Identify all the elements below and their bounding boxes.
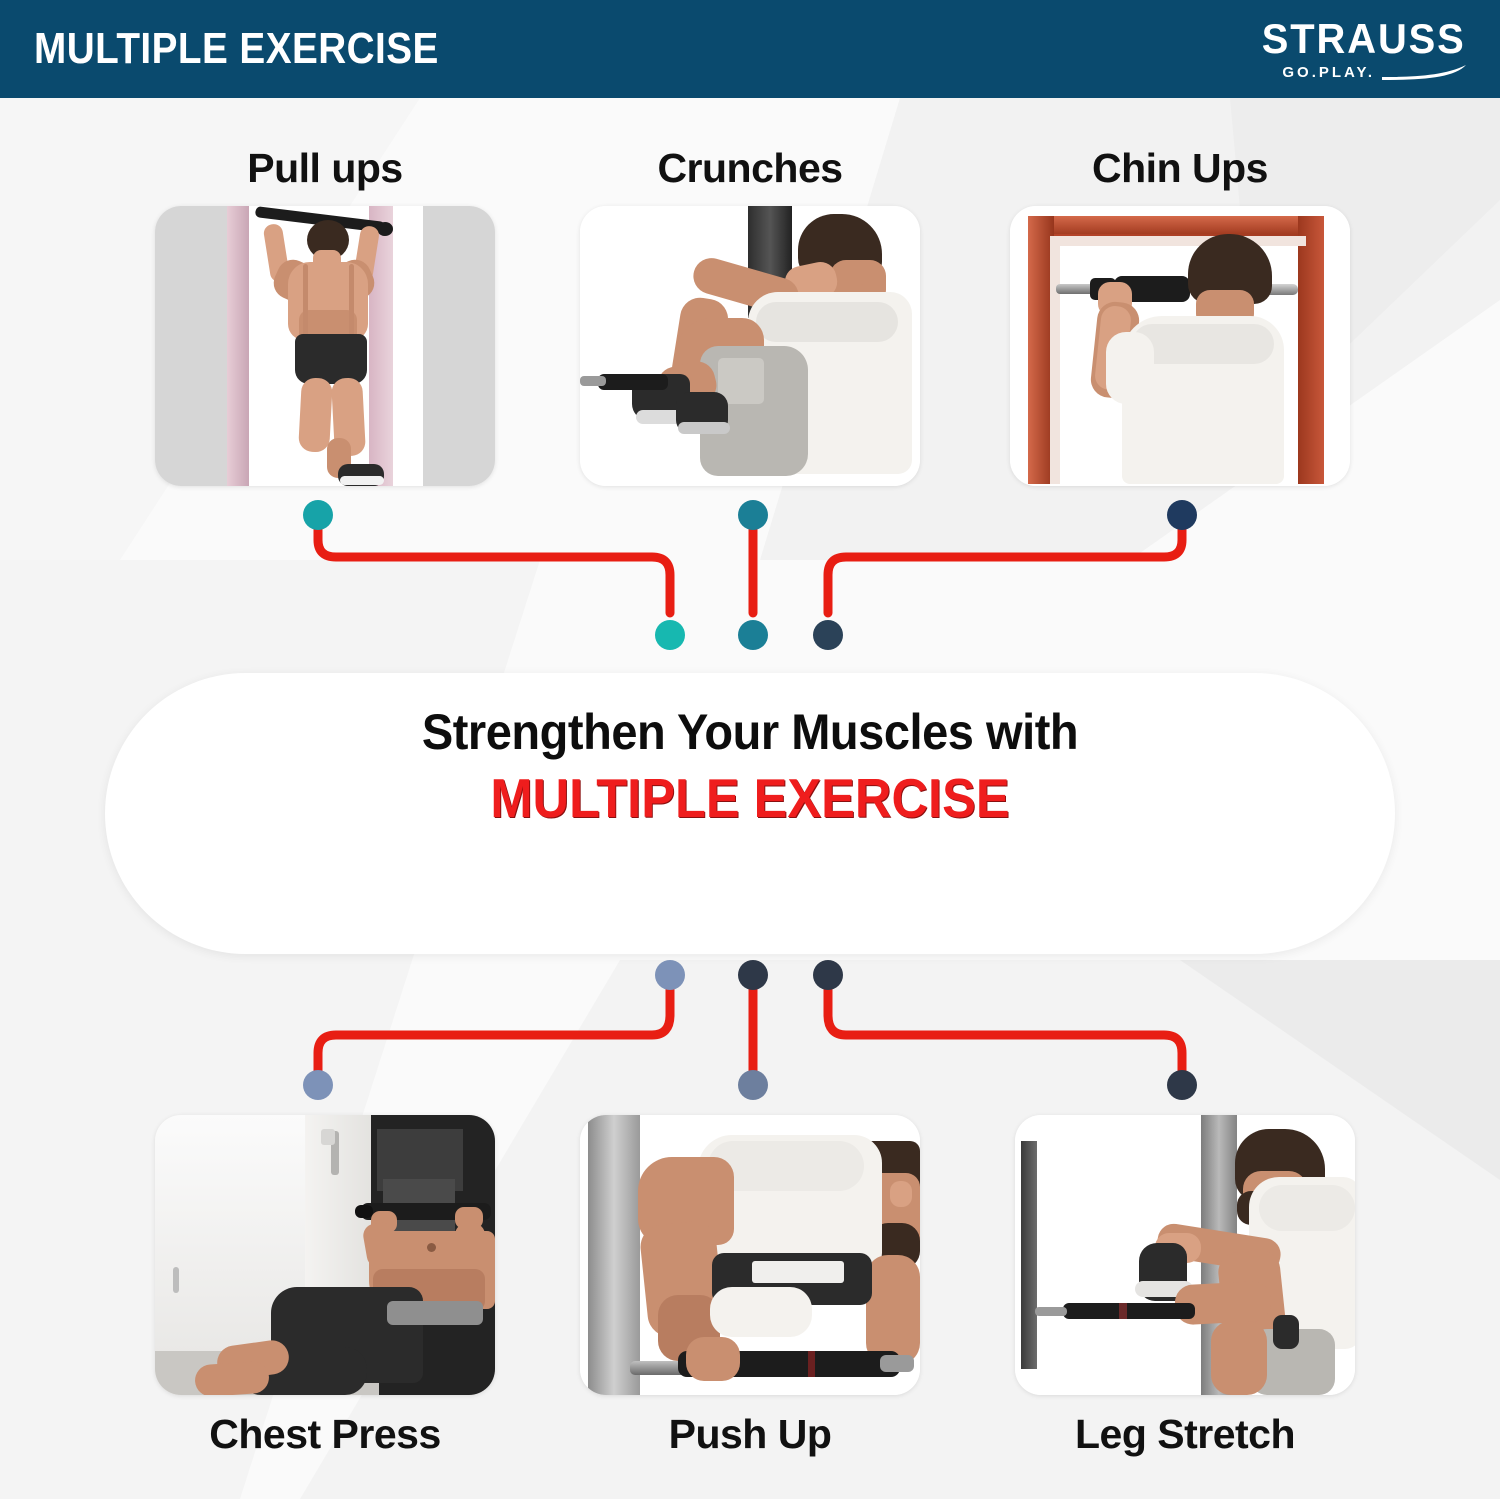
brand-subline: GO.PLAY. xyxy=(1282,65,1466,80)
center-panel: Strengthen Your Muscles with MULTIPLE EX… xyxy=(105,673,1395,954)
exercise-card-pull-ups[interactable]: Pull ups xyxy=(155,145,495,486)
swoosh-icon xyxy=(1382,65,1466,80)
exercise-label-pull-ups: Pull ups xyxy=(155,145,495,192)
exercise-card-crunches[interactable]: Crunches xyxy=(580,145,920,486)
exercise-photo-crunches xyxy=(580,206,920,486)
page-title: MULTIPLE EXERCISE xyxy=(34,24,439,74)
brand-tagline: GO.PLAY. xyxy=(1282,65,1375,80)
exercise-photo-leg-stretch xyxy=(1015,1115,1355,1395)
exercise-label-crunches: Crunches xyxy=(580,145,920,192)
connectors-bottom xyxy=(0,955,1500,1105)
connectors-top xyxy=(0,495,1500,655)
exercise-label-leg-stretch: Leg Stretch xyxy=(1015,1411,1355,1458)
brand-logo: STRAUSS GO.PLAY. xyxy=(1251,18,1466,80)
exercise-photo-chin-ups xyxy=(1010,206,1350,486)
headline: Strengthen Your Muscles with xyxy=(144,703,1357,761)
exercise-card-leg-stretch[interactable]: Leg Stretch xyxy=(1015,1115,1355,1458)
exercise-label-chin-ups: Chin Ups xyxy=(1010,145,1350,192)
exercise-card-chin-ups[interactable]: Chin Ups xyxy=(1010,145,1350,486)
brand-name: STRAUSS xyxy=(1262,18,1466,60)
infographic-page: MULTIPLE EXERCISE STRAUSS GO.PLAY. Pull … xyxy=(0,0,1500,1499)
exercise-card-chest-press[interactable]: Chest Press xyxy=(155,1115,495,1458)
headline-accent: MULTIPLE EXERCISE xyxy=(157,766,1344,830)
exercise-photo-chest-press xyxy=(155,1115,495,1395)
exercise-photo-pull-ups xyxy=(155,206,495,486)
exercise-photo-push-up xyxy=(580,1115,920,1395)
exercise-label-push-up: Push Up xyxy=(580,1411,920,1458)
exercise-label-chest-press: Chest Press xyxy=(155,1411,495,1458)
exercise-card-push-up[interactable]: Push Up xyxy=(580,1115,920,1458)
header-bar: MULTIPLE EXERCISE STRAUSS GO.PLAY. xyxy=(0,0,1500,98)
